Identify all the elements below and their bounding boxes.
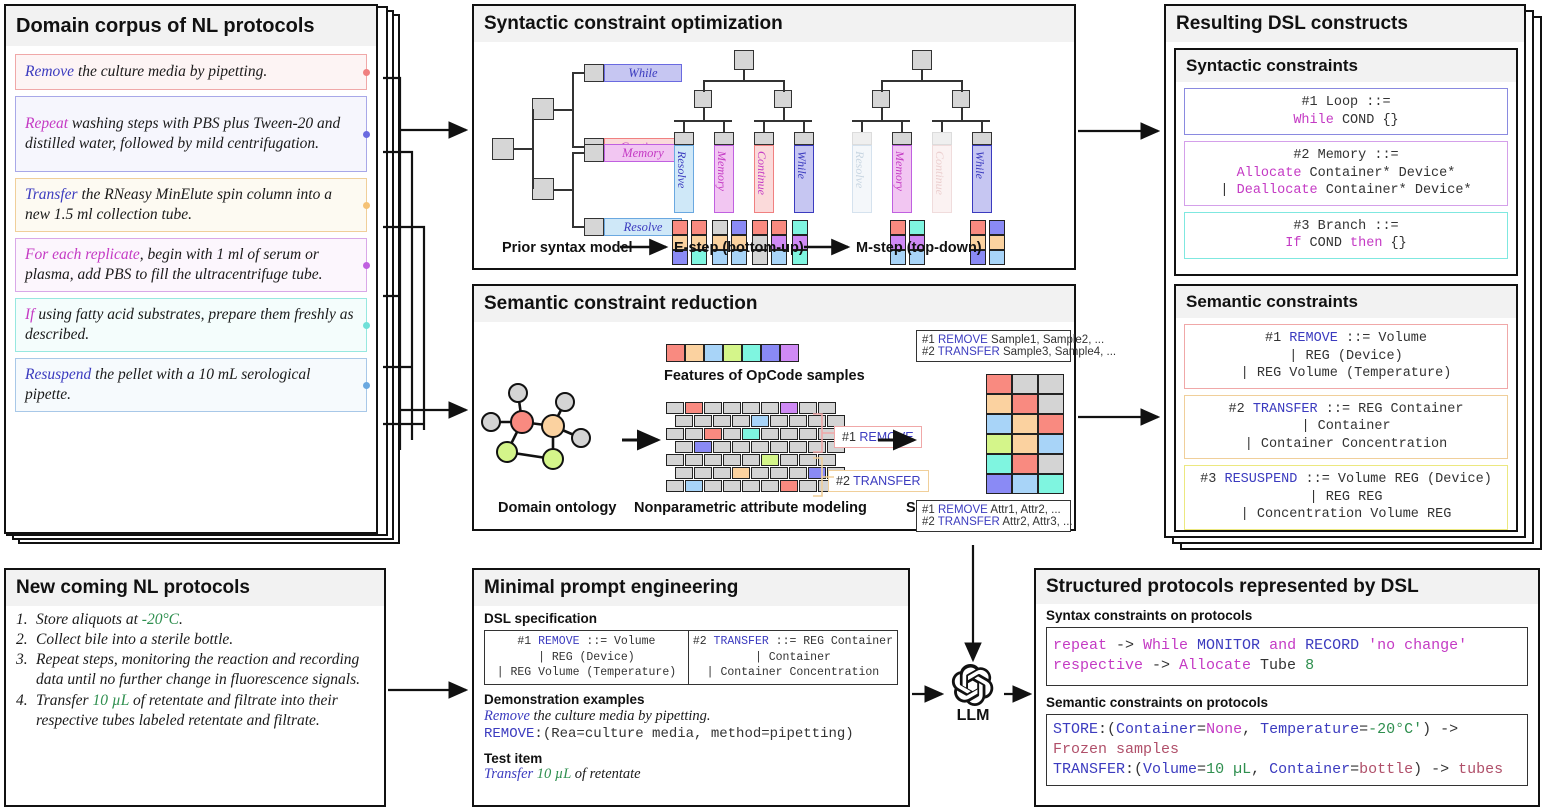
code-token: Container <box>1116 721 1197 738</box>
semantic-constraints-title: Semantic constraints <box>1176 286 1516 318</box>
code-token: | Container <box>755 651 831 664</box>
code-token: 'no change' <box>1359 637 1467 654</box>
new-coming-item-number: 4. <box>16 691 36 731</box>
code-token: MONITOR <box>1188 637 1260 654</box>
code-token: repeat <box>1053 637 1107 654</box>
new-coming-item: 4.Transfer 10 µL of retentate and filtra… <box>16 691 374 731</box>
code-token: Tube <box>1251 657 1305 674</box>
code-token: = <box>1197 761 1206 778</box>
code-token: ) -> <box>1413 761 1458 778</box>
dsl-syntactic-rule-line: #1 Loop ::= <box>1191 94 1501 112</box>
semantic-rule-list: #1 REMOVE ::= Volume| REG (Device)| REG … <box>1176 318 1516 542</box>
dsl-semantic-rule-line: | Container <box>1191 418 1501 436</box>
code-token: | <box>1220 183 1236 198</box>
dsl-spec-line: | Container Concentration <box>693 665 893 681</box>
corpus-item-text: For each replicate, begin with 1 ml of s… <box>25 245 357 285</box>
corpus-item: For each replicate, begin with 1 ml of s… <box>15 238 367 292</box>
code-token: ::= Volume <box>1338 331 1427 346</box>
corpus-item-anchor-dot <box>363 131 370 138</box>
syntactic-rule-list: #1 Loop ::=While COND {}#2 Memory ::=All… <box>1176 82 1516 271</box>
minimal-prompt-title: Minimal prompt engineering <box>474 570 908 606</box>
dsl-semantic-rule-line: | REG REG <box>1191 489 1501 507</box>
corpus-item-keyword: Remove <box>25 63 74 80</box>
dsl-semantic-rule-line: | REG (Device) <box>1191 348 1501 366</box>
dsl-syntactic-rule: #3 Branch ::=If COND then {} <box>1184 212 1508 259</box>
dsl-syntactic-rule-line: #2 Memory ::= <box>1191 147 1501 165</box>
demo-dsl-code: REMOVE:(Rea=culture media, method=pipett… <box>484 725 898 743</box>
code-token: None <box>1206 721 1242 738</box>
code-token: | Container <box>1301 419 1390 434</box>
code-token: respective <box>1053 657 1143 674</box>
code-token: | REG Volume (Temperature) <box>1241 366 1452 381</box>
dsl-semantic-rule-line: | REG Volume (Temperature) <box>1191 365 1501 383</box>
corpus-item-keyword: Repeat <box>25 115 68 132</box>
syntactic-diagram: WhileContinueMemoryResolvePrior syntax m… <box>474 42 1074 268</box>
semantic-reduction-panel: Semantic constraint reduction Features o… <box>472 284 1076 531</box>
semantic-constraints-heading: Semantic constraints on protocols <box>1046 695 1528 710</box>
code-token: TRANSFER <box>714 635 769 648</box>
dsl-semantic-rule: #1 REMOVE ::= Volume| REG (Device)| REG … <box>1184 324 1508 389</box>
code-token: Collect bile into a sterile bottle. <box>36 631 233 648</box>
dsl-semantic-rule-line: | Container Concentration <box>1191 436 1501 454</box>
new-coming-item-number: 3. <box>16 650 36 690</box>
semantic-constraints-code: STORE:(Container=None, Temperature=-20°C… <box>1046 714 1528 787</box>
corpus-item: Resuspend the pellet with a 10 mL serolo… <box>15 358 367 412</box>
dsl-syntactic-rule-line: If COND then {} <box>1191 235 1501 253</box>
llm-label: LLM <box>944 707 1002 725</box>
syntactic-constraints-title: Syntactic constraints <box>1176 50 1516 82</box>
code-token: 10 µL <box>537 766 571 782</box>
code-token: = <box>1350 761 1359 778</box>
syntactic-constraints-box: Syntactic constraints #1 Loop ::=While C… <box>1174 48 1518 276</box>
code-token: :(Rea=culture media, method=pipetting) <box>534 726 853 742</box>
code-token: = <box>1197 721 1206 738</box>
dsl-semantic-rule-line: | Concentration Volume REG <box>1191 506 1501 524</box>
code-token: #1 <box>1265 331 1289 346</box>
code-token: #1 <box>517 635 538 648</box>
code-token: Container* Device* <box>1301 166 1455 181</box>
corpus-item-anchor-dot <box>363 262 370 269</box>
demo-nl-sentence: Remove the culture media by pipetting. <box>484 707 898 725</box>
code-token: REMOVE <box>484 726 534 742</box>
code-token: COND {} <box>1334 113 1399 128</box>
semantic-reduction-title: Semantic constraint reduction <box>474 286 1074 322</box>
code-token: While <box>1143 637 1188 654</box>
semantic-constraints-box: Semantic constraints #1 REMOVE ::= Volum… <box>1174 284 1518 532</box>
openai-logo-icon <box>952 664 994 706</box>
dsl-semantic-rule-line: #1 REMOVE ::= Volume <box>1191 330 1501 348</box>
syntactic-stage-arrows <box>474 42 1078 268</box>
code-token: ::= Volume <box>580 635 656 648</box>
code-token: ) -> <box>1422 721 1467 738</box>
corpus-item-text: If using fatty acid substrates, prepare … <box>25 305 357 345</box>
code-token: Transfer <box>484 766 537 782</box>
dsl-syntactic-rule-line: Allocate Container* Device* <box>1191 165 1501 183</box>
corpus-item: Repeat washing steps with PBS plus Tween… <box>15 96 367 172</box>
dsl-semantic-rule: #2 TRANSFER ::= REG Container| Container… <box>1184 395 1508 460</box>
corpus-item: If using fatty acid substrates, prepare … <box>15 298 367 352</box>
code-token: #2 <box>693 635 714 648</box>
dsl-syntactic-rule-line: While COND {} <box>1191 112 1501 130</box>
code-token: REMOVE <box>538 635 579 648</box>
corpus-item-text: Repeat washing steps with PBS plus Tween… <box>25 114 357 154</box>
code-token: REMOVE <box>1289 331 1338 346</box>
code-token: ::= REG Container <box>769 635 893 648</box>
corpus-item-keyword: Resuspend <box>25 366 91 383</box>
code-token: | Container Concentration <box>1245 437 1448 452</box>
code-token: Allocate <box>1179 657 1251 674</box>
code-token: | REG Volume (Temperature) <box>497 666 676 679</box>
dsl-syntactic-rule-line: #3 Branch ::= <box>1191 218 1501 236</box>
corpus-item: Remove the culture media by pipetting. <box>15 54 367 90</box>
code-token: COND <box>1301 236 1350 251</box>
new-coming-item: 2.Collect bile into a sterile bottle. <box>16 630 374 650</box>
new-coming-title: New coming NL protocols <box>6 570 384 606</box>
code-token: Allocate <box>1237 166 1302 181</box>
dsl-spec-line: | Container <box>693 650 893 666</box>
structured-protocols-panel: Structured protocols represented by DSL … <box>1034 568 1540 807</box>
code-token: Container* Device* <box>1318 183 1472 198</box>
demo-nl-rest: the culture media by pipetting. <box>530 708 711 724</box>
code-token: 10 µL <box>92 692 129 709</box>
test-item-heading: Test item <box>484 751 898 766</box>
code-token: TRANSFER <box>1253 402 1318 417</box>
syntactic-optimization-title: Syntactic constraint optimization <box>474 6 1074 42</box>
code-token: {} <box>1382 236 1406 251</box>
llm-node: LLM <box>944 664 1002 726</box>
code-token: Repeat steps, monitoring the reaction an… <box>36 651 360 688</box>
code-token: then <box>1350 236 1382 251</box>
corpus-item-list: Remove the culture media by pipetting.Re… <box>6 46 376 412</box>
code-token: tubes <box>1458 761 1503 778</box>
code-token: -> <box>1107 637 1143 654</box>
code-token: 10 µL <box>1206 761 1251 778</box>
dsl-spec-heading: DSL specification <box>484 611 898 626</box>
syntax-constraints-heading: Syntax constraints on protocols <box>1046 608 1528 623</box>
semantic-protocol-line: Frozen samples <box>1053 740 1521 760</box>
code-token: :( <box>1125 761 1143 778</box>
corpus-item-anchor-dot <box>363 202 370 209</box>
syntax-protocol-line: respective -> Allocate Tube 8 <box>1053 656 1521 676</box>
code-token: . <box>179 611 183 628</box>
new-coming-item: 3.Repeat steps, monitoring the reaction … <box>16 650 374 690</box>
corpus-item-rest: using fatty acid substrates, prepare the… <box>25 306 353 343</box>
code-token: Transfer <box>36 692 92 709</box>
corpus-item-keyword: Transfer <box>25 186 78 203</box>
code-token: RESUSPEND <box>1224 472 1297 487</box>
dsl-spec-left: #1 REMOVE ::= Volume| REG (Device)| REG … <box>485 631 689 684</box>
new-coming-item-number: 1. <box>16 610 36 630</box>
new-coming-item-text: Transfer 10 µL of retentate and filtrate… <box>36 691 374 731</box>
dsl-semantic-rule: #3 RESUSPEND ::= Volume REG (Device)| RE… <box>1184 465 1508 530</box>
code-token: Volume <box>1143 761 1197 778</box>
domain-corpus-title: Domain corpus of NL protocols <box>6 6 376 46</box>
dsl-spec-right: #2 TRANSFER ::= REG Container| Container… <box>689 631 897 684</box>
demo-nl-keyword: Remove <box>484 708 530 724</box>
corpus-item-anchor-dot <box>363 382 370 389</box>
semantic-stage-arrows <box>474 322 1078 529</box>
corpus-item-keyword: For each replicate <box>25 246 140 263</box>
code-token: #3 <box>1200 472 1224 487</box>
code-token: TRANSFER <box>1053 761 1125 778</box>
dsl-semantic-rule-line: #2 TRANSFER ::= REG Container <box>1191 401 1501 419</box>
corpus-item-anchor-dot <box>363 322 370 329</box>
dsl-semantic-rule-line: #3 RESUSPEND ::= Volume REG (Device) <box>1191 471 1501 489</box>
new-coming-item-text: Store aliquots at -20°C. <box>36 610 374 630</box>
corpus-item: Transfer the RNeasy MinElute spin column… <box>15 178 367 232</box>
code-token: RECORD <box>1296 637 1359 654</box>
code-token: Deallocate <box>1237 183 1318 198</box>
corpus-item-text: Transfer the RNeasy MinElute spin column… <box>25 185 357 225</box>
dsl-spec-line: | REG (Device) <box>489 650 684 666</box>
domain-corpus-panel: Domain corpus of NL protocols Remove the… <box>4 4 378 534</box>
code-token: 8 <box>1305 657 1314 674</box>
syntactic-optimization-panel: Syntactic constraint optimization WhileC… <box>472 4 1076 270</box>
code-token: #1 Loop ::= <box>1301 95 1390 110</box>
dsl-spec-line: | REG Volume (Temperature) <box>489 665 684 681</box>
syntax-protocol-line: repeat -> While MONITOR and RECORD 'no c… <box>1053 636 1521 656</box>
dsl-syntactic-rule-line: | Deallocate Container* Device* <box>1191 182 1501 200</box>
resulting-dsl-panel: Resulting DSL constructs Syntactic const… <box>1164 4 1526 538</box>
code-token: Store aliquots at <box>36 611 142 628</box>
code-token: Container <box>1269 761 1350 778</box>
code-token: | REG (Device) <box>1289 349 1402 364</box>
syntax-constraints-code: repeat -> While MONITOR and RECORD 'no c… <box>1046 627 1528 686</box>
code-token: = <box>1359 721 1368 738</box>
code-token: , <box>1251 761 1269 778</box>
new-coming-panel: New coming NL protocols 1.Store aliquots… <box>4 568 386 807</box>
code-token: ::= REG Container <box>1318 402 1464 417</box>
semantic-protocol-line: TRANSFER:(Volume=10 µL, Container=bottle… <box>1053 760 1521 780</box>
code-token: | REG (Device) <box>538 651 635 664</box>
code-token: Temperature <box>1260 721 1359 738</box>
code-token: :( <box>1098 721 1116 738</box>
corpus-item-text: Resuspend the pellet with a 10 mL serolo… <box>25 365 357 405</box>
dsl-syntactic-rule: #1 Loop ::=While COND {} <box>1184 88 1508 135</box>
semantic-diagram: Features of OpCode samplesDomain ontolog… <box>474 322 1074 529</box>
code-token: -20°C' <box>1368 721 1422 738</box>
code-token: While <box>1293 113 1334 128</box>
demo-examples-heading: Demonstration examples <box>484 692 898 707</box>
code-token: , <box>1242 721 1260 738</box>
dsl-syntactic-rule: #2 Memory ::=Allocate Container* Device*… <box>1184 141 1508 206</box>
code-token: and <box>1260 637 1296 654</box>
minimal-prompt-panel: Minimal prompt engineering DSL specifica… <box>472 568 910 807</box>
code-token: #3 Branch ::= <box>1293 219 1398 234</box>
code-token: bottle <box>1359 761 1413 778</box>
test-item-text: Transfer 10 µL of retentate <box>484 766 898 783</box>
dsl-spec-line: #1 REMOVE ::= Volume <box>489 634 684 650</box>
code-token: | REG REG <box>1310 490 1383 505</box>
code-token: -> <box>1143 657 1179 674</box>
code-token: of retentate <box>571 766 641 782</box>
new-coming-item-text: Collect bile into a sterile bottle. <box>36 630 374 650</box>
corpus-item-anchor-dot <box>363 69 370 76</box>
corpus-item-text: Remove the culture media by pipetting. <box>25 62 267 82</box>
code-token: | Container Concentration <box>707 666 880 679</box>
code-token: -20°C <box>142 611 179 628</box>
code-token: | Concentration Volume REG <box>1241 507 1452 522</box>
dsl-spec-line: #2 TRANSFER ::= REG Container <box>693 634 893 650</box>
code-token: ::= Volume REG (Device) <box>1297 472 1491 487</box>
code-token: STORE <box>1053 721 1098 738</box>
code-token: If <box>1285 236 1301 251</box>
code-token: #2 <box>1229 402 1253 417</box>
corpus-item-rest: washing steps with PBS plus Tween-20 and… <box>25 115 340 152</box>
semantic-protocol-line: STORE:(Container=None, Temperature=-20°C… <box>1053 720 1521 740</box>
new-coming-item-text: Repeat steps, monitoring the reaction an… <box>36 650 374 690</box>
corpus-item-rest: the culture media by pipetting. <box>74 63 267 80</box>
code-token: #2 Memory ::= <box>1293 148 1398 163</box>
new-coming-item: 1.Store aliquots at -20°C. <box>16 610 374 630</box>
code-token: Frozen samples <box>1053 741 1179 758</box>
new-coming-list: 1.Store aliquots at -20°C.2.Collect bile… <box>6 606 384 731</box>
new-coming-item-number: 2. <box>16 630 36 650</box>
structured-protocols-title: Structured protocols represented by DSL <box>1036 570 1538 604</box>
resulting-dsl-title: Resulting DSL constructs <box>1166 6 1524 42</box>
